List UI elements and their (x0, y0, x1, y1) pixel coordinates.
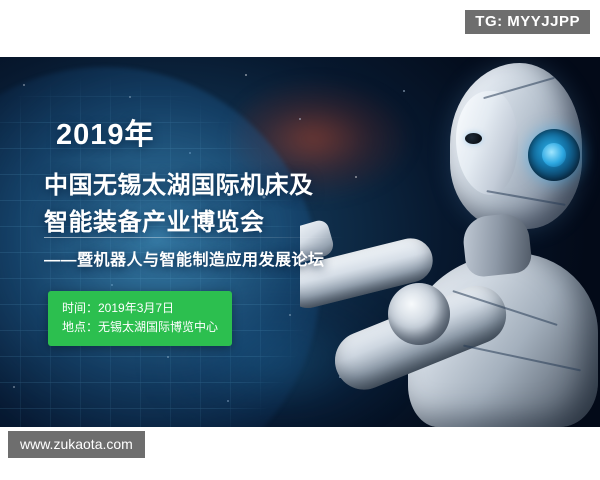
event-poster-image: 2019年 中国无锡太湖国际机床及 智能装备产业博览会 ——暨机器人与智能制造应… (0, 57, 600, 427)
robot-earpiece (528, 129, 580, 181)
robot-eye (465, 133, 482, 144)
poster-title-line-2: 智能装备产业博览会 (44, 204, 374, 241)
robot-elbow-joint (388, 283, 450, 345)
event-time: 时间：2019年3月7日 (62, 299, 218, 318)
event-info-box: 时间：2019年3月7日 地点：无锡太湖国际博览中心 (48, 291, 232, 346)
poster-title: 中国无锡太湖国际机床及 智能装备产业博览会 (44, 167, 374, 241)
event-place: 地点：无锡太湖国际博览中心 (62, 318, 218, 337)
poster-year: 2019年 (56, 111, 155, 153)
screenshot-root: TG: MYYJJPP 2019年 中国无锡太湖国际机 (0, 0, 600, 480)
robot-illustration (300, 57, 600, 427)
robot-neck (461, 212, 533, 279)
site-url-watermark: www.zukaota.com (8, 431, 145, 458)
poster-title-divider (44, 237, 344, 238)
telegram-watermark-tag: TG: MYYJJPP (465, 10, 590, 34)
poster-subtitle: ——暨机器人与智能制造应用发展论坛 (44, 246, 325, 270)
poster-title-line-1: 中国无锡太湖国际机床及 (44, 167, 374, 204)
